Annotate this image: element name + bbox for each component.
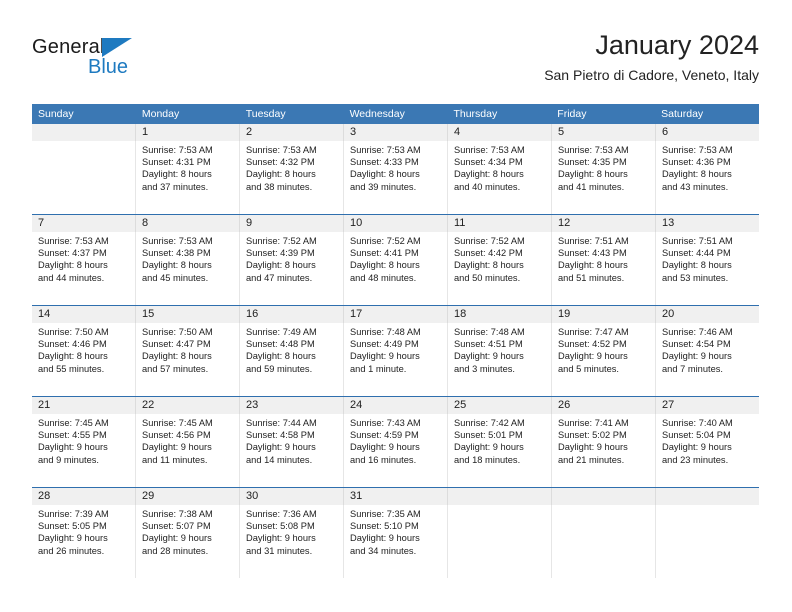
day-number[interactable]: 24 — [343, 397, 447, 414]
day-info-line: Sunset: 5:08 PM — [246, 520, 337, 532]
day-info-line: Sunset: 4:39 PM — [246, 247, 337, 259]
day-info-line: Daylight: 8 hours — [142, 259, 233, 271]
day-number[interactable]: 31 — [343, 488, 447, 505]
weekday-header-sunday: Sunday — [32, 104, 136, 124]
day-info-line: Sunset: 4:56 PM — [142, 429, 233, 441]
day-info-line: Sunrise: 7:53 AM — [246, 144, 337, 156]
day-info-line: Sunset: 4:37 PM — [38, 247, 129, 259]
day-info-line: Daylight: 9 hours — [558, 441, 649, 453]
day-detail-row: Sunrise: 7:53 AMSunset: 4:37 PMDaylight:… — [32, 232, 759, 305]
day-info-line: Sunrise: 7:53 AM — [454, 144, 545, 156]
day-cell[interactable]: Sunrise: 7:53 AMSunset: 4:32 PMDaylight:… — [239, 141, 343, 214]
day-info-line: Sunset: 5:02 PM — [558, 429, 649, 441]
day-number[interactable]: 30 — [239, 488, 343, 505]
day-info-line: Sunrise: 7:45 AM — [142, 417, 233, 429]
day-info-line: and 37 minutes. — [142, 181, 233, 193]
day-number[interactable]: 18 — [447, 306, 551, 323]
day-number[interactable]: 22 — [135, 397, 239, 414]
day-info-line: Daylight: 9 hours — [350, 532, 441, 544]
day-info-line: Daylight: 8 hours — [246, 259, 337, 271]
day-number[interactable]: 10 — [343, 215, 447, 232]
day-info-line: Daylight: 9 hours — [454, 441, 545, 453]
day-info-line: Sunset: 4:42 PM — [454, 247, 545, 259]
day-info-line: and 57 minutes. — [142, 363, 233, 375]
day-info-line: Daylight: 8 hours — [142, 350, 233, 362]
weekday-header-thursday: Thursday — [447, 104, 551, 124]
calendar-week-row: 28293031Sunrise: 7:39 AMSunset: 5:05 PMD… — [32, 487, 759, 578]
day-info-line: Sunrise: 7:46 AM — [662, 326, 753, 338]
day-cell-empty — [551, 505, 655, 578]
day-cell[interactable]: Sunrise: 7:44 AMSunset: 4:58 PMDaylight:… — [239, 414, 343, 487]
day-info-line: Daylight: 8 hours — [662, 259, 753, 271]
day-number[interactable]: 5 — [551, 124, 655, 141]
day-cell[interactable]: Sunrise: 7:48 AMSunset: 4:51 PMDaylight:… — [447, 323, 551, 396]
day-info-line: Daylight: 9 hours — [662, 441, 753, 453]
day-cell[interactable]: Sunrise: 7:49 AMSunset: 4:48 PMDaylight:… — [239, 323, 343, 396]
day-info-line: and 39 minutes. — [350, 181, 441, 193]
day-cell[interactable]: Sunrise: 7:47 AMSunset: 4:52 PMDaylight:… — [551, 323, 655, 396]
day-number[interactable]: 21 — [32, 397, 135, 414]
day-info-line: Sunrise: 7:42 AM — [454, 417, 545, 429]
day-info-line: Sunset: 5:01 PM — [454, 429, 545, 441]
day-info-line: and 18 minutes. — [454, 454, 545, 466]
calendar-week-row: 123456Sunrise: 7:53 AMSunset: 4:31 PMDay… — [32, 124, 759, 214]
day-cell[interactable]: Sunrise: 7:39 AMSunset: 5:05 PMDaylight:… — [32, 505, 135, 578]
calendar-grid: SundayMondayTuesdayWednesdayThursdayFrid… — [32, 104, 759, 578]
calendar-week-row: 78910111213Sunrise: 7:53 AMSunset: 4:37 … — [32, 214, 759, 305]
day-info-line: Sunset: 4:36 PM — [662, 156, 753, 168]
day-info-line: Daylight: 9 hours — [454, 350, 545, 362]
day-cell[interactable]: Sunrise: 7:53 AMSunset: 4:35 PMDaylight:… — [551, 141, 655, 214]
day-info-line: and 59 minutes. — [246, 363, 337, 375]
day-info-line: Sunrise: 7:53 AM — [38, 235, 129, 247]
day-number[interactable]: 17 — [343, 306, 447, 323]
day-number[interactable]: 16 — [239, 306, 343, 323]
day-info-line: Sunrise: 7:53 AM — [350, 144, 441, 156]
day-info-line: Daylight: 9 hours — [142, 441, 233, 453]
day-number-empty — [551, 488, 655, 505]
day-cell[interactable]: Sunrise: 7:53 AMSunset: 4:33 PMDaylight:… — [343, 141, 447, 214]
day-info-line: and 16 minutes. — [350, 454, 441, 466]
day-cell[interactable]: Sunrise: 7:50 AMSunset: 4:47 PMDaylight:… — [135, 323, 239, 396]
day-info-line: Sunset: 4:31 PM — [142, 156, 233, 168]
day-cell[interactable]: Sunrise: 7:53 AMSunset: 4:31 PMDaylight:… — [135, 141, 239, 214]
day-info-line: Daylight: 8 hours — [558, 168, 649, 180]
day-cell[interactable]: Sunrise: 7:40 AMSunset: 5:04 PMDaylight:… — [655, 414, 759, 487]
weekday-header-wednesday: Wednesday — [344, 104, 448, 124]
day-cell[interactable]: Sunrise: 7:36 AMSunset: 5:08 PMDaylight:… — [239, 505, 343, 578]
logo-text-blue: Blue — [88, 56, 128, 79]
day-info-line: and 21 minutes. — [558, 454, 649, 466]
day-info-line: Daylight: 8 hours — [662, 168, 753, 180]
day-info-line: Sunset: 4:33 PM — [350, 156, 441, 168]
weekday-header-saturday: Saturday — [655, 104, 759, 124]
day-info-line: Daylight: 9 hours — [38, 441, 129, 453]
day-number-row: 78910111213 — [32, 215, 759, 232]
day-number-row: 21222324252627 — [32, 397, 759, 414]
calendar-week-row: 14151617181920Sunrise: 7:50 AMSunset: 4:… — [32, 305, 759, 396]
day-info-line: Sunset: 4:51 PM — [454, 338, 545, 350]
day-info-line: and 44 minutes. — [38, 272, 129, 284]
day-info-line: Daylight: 8 hours — [38, 259, 129, 271]
day-info-line: Sunrise: 7:53 AM — [142, 235, 233, 247]
day-number-row: 14151617181920 — [32, 306, 759, 323]
day-info-line: Daylight: 8 hours — [246, 350, 337, 362]
day-info-line: Sunset: 4:59 PM — [350, 429, 441, 441]
day-number[interactable]: 27 — [655, 397, 759, 414]
day-info-line: Sunrise: 7:53 AM — [558, 144, 649, 156]
weekday-header-tuesday: Tuesday — [240, 104, 344, 124]
day-info-line: and 3 minutes. — [454, 363, 545, 375]
day-info-line: Sunrise: 7:50 AM — [38, 326, 129, 338]
day-info-line: Sunset: 5:05 PM — [38, 520, 129, 532]
day-info-line: Daylight: 9 hours — [38, 532, 129, 544]
day-info-line: and 48 minutes. — [350, 272, 441, 284]
day-info-line: Sunset: 4:47 PM — [142, 338, 233, 350]
general-blue-logo[interactable]: General Blue — [32, 36, 162, 84]
day-info-line: Daylight: 8 hours — [350, 168, 441, 180]
day-info-line: Daylight: 9 hours — [246, 532, 337, 544]
day-number[interactable]: 26 — [551, 397, 655, 414]
day-info-line: and 41 minutes. — [558, 181, 649, 193]
day-cell[interactable]: Sunrise: 7:46 AMSunset: 4:54 PMDaylight:… — [655, 323, 759, 396]
day-info-line: Sunrise: 7:39 AM — [38, 508, 129, 520]
day-number[interactable]: 7 — [32, 215, 135, 232]
day-info-line: and 45 minutes. — [142, 272, 233, 284]
day-cell-empty — [655, 505, 759, 578]
day-cell[interactable]: Sunrise: 7:53 AMSunset: 4:37 PMDaylight:… — [32, 232, 135, 305]
day-info-line: Sunrise: 7:51 AM — [558, 235, 649, 247]
day-number[interactable]: 4 — [447, 124, 551, 141]
day-info-line: and 31 minutes. — [246, 545, 337, 557]
calendar-week-row: 21222324252627Sunrise: 7:45 AMSunset: 4:… — [32, 396, 759, 487]
day-info-line: Sunset: 4:49 PM — [350, 338, 441, 350]
day-cell[interactable]: Sunrise: 7:35 AMSunset: 5:10 PMDaylight:… — [343, 505, 447, 578]
day-number[interactable]: 6 — [655, 124, 759, 141]
day-info-line: Sunset: 4:41 PM — [350, 247, 441, 259]
day-info-line: Sunset: 4:46 PM — [38, 338, 129, 350]
day-info-line: Sunrise: 7:40 AM — [662, 417, 753, 429]
day-info-line: and 34 minutes. — [350, 545, 441, 557]
day-info-line: Daylight: 8 hours — [142, 168, 233, 180]
page-subtitle: San Pietro di Cadore, Veneto, Italy — [544, 65, 759, 85]
weekday-header-row: SundayMondayTuesdayWednesdayThursdayFrid… — [32, 104, 759, 124]
day-info-line: Sunset: 4:35 PM — [558, 156, 649, 168]
day-info-line: and 47 minutes. — [246, 272, 337, 284]
day-info-line: Daylight: 9 hours — [350, 441, 441, 453]
day-cell[interactable]: Sunrise: 7:52 AMSunset: 4:41 PMDaylight:… — [343, 232, 447, 305]
day-info-line: and 11 minutes. — [142, 454, 233, 466]
day-info-line: Sunset: 4:32 PM — [246, 156, 337, 168]
day-info-line: Daylight: 9 hours — [350, 350, 441, 362]
day-cell-empty — [32, 141, 135, 214]
day-info-line: and 1 minute. — [350, 363, 441, 375]
day-info-line: Sunrise: 7:47 AM — [558, 326, 649, 338]
day-cell[interactable]: Sunrise: 7:52 AMSunset: 4:39 PMDaylight:… — [239, 232, 343, 305]
day-info-line: Sunrise: 7:35 AM — [350, 508, 441, 520]
day-info-line: Sunset: 4:58 PM — [246, 429, 337, 441]
day-info-line: Sunrise: 7:53 AM — [662, 144, 753, 156]
day-info-line: and 7 minutes. — [662, 363, 753, 375]
day-info-line: Daylight: 9 hours — [662, 350, 753, 362]
day-detail-row: Sunrise: 7:53 AMSunset: 4:31 PMDaylight:… — [32, 141, 759, 214]
day-info-line: Sunset: 4:38 PM — [142, 247, 233, 259]
day-info-line: Sunset: 5:07 PM — [142, 520, 233, 532]
day-info-line: Sunset: 4:43 PM — [558, 247, 649, 259]
day-number[interactable]: 3 — [343, 124, 447, 141]
day-info-line: Daylight: 8 hours — [454, 168, 545, 180]
day-number[interactable]: 29 — [135, 488, 239, 505]
day-info-line: and 28 minutes. — [142, 545, 233, 557]
day-info-line: Sunrise: 7:48 AM — [350, 326, 441, 338]
day-number[interactable]: 1 — [135, 124, 239, 141]
day-info-line: Sunrise: 7:41 AM — [558, 417, 649, 429]
page-title: January 2024 — [544, 28, 759, 62]
day-info-line: Sunset: 4:55 PM — [38, 429, 129, 441]
day-number[interactable]: 15 — [135, 306, 239, 323]
day-detail-row: Sunrise: 7:50 AMSunset: 4:46 PMDaylight:… — [32, 323, 759, 396]
day-detail-row: Sunrise: 7:45 AMSunset: 4:55 PMDaylight:… — [32, 414, 759, 487]
day-info-line: Sunrise: 7:44 AM — [246, 417, 337, 429]
day-info-line: Daylight: 8 hours — [558, 259, 649, 271]
day-info-line: Sunrise: 7:53 AM — [142, 144, 233, 156]
day-info-line: Sunset: 5:04 PM — [662, 429, 753, 441]
day-number[interactable]: 19 — [551, 306, 655, 323]
day-info-line: Sunrise: 7:50 AM — [142, 326, 233, 338]
day-number[interactable]: 25 — [447, 397, 551, 414]
weekday-header-monday: Monday — [136, 104, 240, 124]
day-number-row: 123456 — [32, 124, 759, 141]
day-info-line: and 26 minutes. — [38, 545, 129, 557]
day-info-line: Sunrise: 7:51 AM — [662, 235, 753, 247]
day-info-line: Sunset: 4:54 PM — [662, 338, 753, 350]
day-number-empty — [655, 488, 759, 505]
day-number-empty — [32, 124, 135, 141]
day-info-line: and 55 minutes. — [38, 363, 129, 375]
day-cell[interactable]: Sunrise: 7:45 AMSunset: 4:55 PMDaylight:… — [32, 414, 135, 487]
day-info-line: Daylight: 9 hours — [246, 441, 337, 453]
day-info-line: Sunset: 5:10 PM — [350, 520, 441, 532]
day-info-line: and 14 minutes. — [246, 454, 337, 466]
day-info-line: Daylight: 8 hours — [38, 350, 129, 362]
day-cell[interactable]: Sunrise: 7:42 AMSunset: 5:01 PMDaylight:… — [447, 414, 551, 487]
day-number[interactable]: 8 — [135, 215, 239, 232]
day-cell[interactable]: Sunrise: 7:48 AMSunset: 4:49 PMDaylight:… — [343, 323, 447, 396]
day-info-line: Daylight: 8 hours — [350, 259, 441, 271]
day-info-line: and 23 minutes. — [662, 454, 753, 466]
day-info-line: Sunset: 4:34 PM — [454, 156, 545, 168]
day-cell-empty — [447, 505, 551, 578]
day-info-line: and 40 minutes. — [454, 181, 545, 193]
title-block: January 2024 San Pietro di Cadore, Venet… — [544, 28, 759, 85]
day-cell[interactable]: Sunrise: 7:45 AMSunset: 4:56 PMDaylight:… — [135, 414, 239, 487]
day-info-line: and 38 minutes. — [246, 181, 337, 193]
day-cell[interactable]: Sunrise: 7:52 AMSunset: 4:42 PMDaylight:… — [447, 232, 551, 305]
day-number[interactable]: 20 — [655, 306, 759, 323]
day-cell[interactable]: Sunrise: 7:53 AMSunset: 4:34 PMDaylight:… — [447, 141, 551, 214]
day-cell[interactable]: Sunrise: 7:53 AMSunset: 4:38 PMDaylight:… — [135, 232, 239, 305]
day-info-line: Sunset: 4:48 PM — [246, 338, 337, 350]
day-info-line: Sunrise: 7:38 AM — [142, 508, 233, 520]
day-number[interactable]: 2 — [239, 124, 343, 141]
day-info-line: and 9 minutes. — [38, 454, 129, 466]
day-cell[interactable]: Sunrise: 7:53 AMSunset: 4:36 PMDaylight:… — [655, 141, 759, 214]
day-info-line: Sunrise: 7:45 AM — [38, 417, 129, 429]
day-info-line: Sunrise: 7:43 AM — [350, 417, 441, 429]
day-number[interactable]: 9 — [239, 215, 343, 232]
day-info-line: and 50 minutes. — [454, 272, 545, 284]
logo-triangle-icon — [102, 38, 132, 57]
day-number[interactable]: 28 — [32, 488, 135, 505]
day-info-line: Sunset: 4:52 PM — [558, 338, 649, 350]
day-info-line: Daylight: 9 hours — [558, 350, 649, 362]
day-cell[interactable]: Sunrise: 7:43 AMSunset: 4:59 PMDaylight:… — [343, 414, 447, 487]
weekday-header-friday: Friday — [551, 104, 655, 124]
day-info-line: Sunrise: 7:52 AM — [454, 235, 545, 247]
day-number[interactable]: 11 — [447, 215, 551, 232]
day-number[interactable]: 12 — [551, 215, 655, 232]
day-number-row: 28293031 — [32, 488, 759, 505]
day-cell[interactable]: Sunrise: 7:50 AMSunset: 4:46 PMDaylight:… — [32, 323, 135, 396]
day-number[interactable]: 14 — [32, 306, 135, 323]
day-cell[interactable]: Sunrise: 7:41 AMSunset: 5:02 PMDaylight:… — [551, 414, 655, 487]
page-header: General Blue January 2024 San Pietro di … — [32, 28, 759, 94]
day-cell[interactable]: Sunrise: 7:51 AMSunset: 4:44 PMDaylight:… — [655, 232, 759, 305]
day-info-line: Daylight: 8 hours — [246, 168, 337, 180]
day-info-line: Daylight: 8 hours — [454, 259, 545, 271]
day-info-line: Sunrise: 7:52 AM — [246, 235, 337, 247]
calendar-weeks: 123456Sunrise: 7:53 AMSunset: 4:31 PMDay… — [32, 124, 759, 578]
day-info-line: Sunset: 4:44 PM — [662, 247, 753, 259]
day-number[interactable]: 23 — [239, 397, 343, 414]
day-number-empty — [447, 488, 551, 505]
day-info-line: Sunrise: 7:52 AM — [350, 235, 441, 247]
day-info-line: Daylight: 9 hours — [142, 532, 233, 544]
day-info-line: Sunrise: 7:49 AM — [246, 326, 337, 338]
day-info-line: Sunrise: 7:36 AM — [246, 508, 337, 520]
day-info-line: Sunrise: 7:48 AM — [454, 326, 545, 338]
day-info-line: and 53 minutes. — [662, 272, 753, 284]
day-cell[interactable]: Sunrise: 7:51 AMSunset: 4:43 PMDaylight:… — [551, 232, 655, 305]
day-cell[interactable]: Sunrise: 7:38 AMSunset: 5:07 PMDaylight:… — [135, 505, 239, 578]
day-info-line: and 43 minutes. — [662, 181, 753, 193]
day-number[interactable]: 13 — [655, 215, 759, 232]
day-info-line: and 5 minutes. — [558, 363, 649, 375]
day-detail-row: Sunrise: 7:39 AMSunset: 5:05 PMDaylight:… — [32, 505, 759, 578]
calendar-page: General Blue January 2024 San Pietro di … — [0, 0, 792, 612]
day-info-line: and 51 minutes. — [558, 272, 649, 284]
